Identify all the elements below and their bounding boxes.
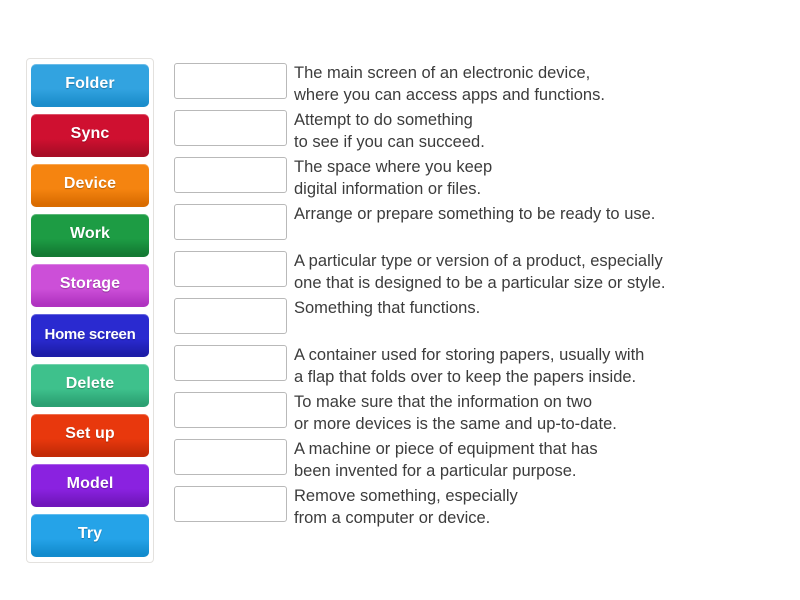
answer-row: A container used for storing papers, usu… bbox=[174, 344, 665, 391]
definition-text: Arrange or prepare something to be ready… bbox=[294, 203, 655, 225]
word-tile-label: Storage bbox=[58, 275, 122, 293]
word-tile[interactable]: Storage bbox=[31, 264, 149, 307]
word-tile-label: Set up bbox=[63, 425, 117, 443]
answer-drop-box[interactable] bbox=[174, 439, 287, 475]
answer-row: Attempt to do something to see if you ca… bbox=[174, 109, 665, 156]
word-tile-label: Work bbox=[68, 225, 112, 243]
word-tile[interactable]: Folder bbox=[31, 64, 149, 107]
answer-drop-box[interactable] bbox=[174, 204, 287, 240]
answer-row: The space where you keep digital informa… bbox=[174, 156, 665, 203]
definition-text: To make sure that the information on two… bbox=[294, 391, 617, 435]
answer-drop-box[interactable] bbox=[174, 251, 287, 287]
definition-text: A machine or piece of equipment that has… bbox=[294, 438, 598, 482]
definition-text: The main screen of an electronic device,… bbox=[294, 62, 605, 106]
answer-row: Arrange or prepare something to be ready… bbox=[174, 203, 665, 250]
word-tile[interactable]: Delete bbox=[31, 364, 149, 407]
answer-drop-box[interactable] bbox=[174, 63, 287, 99]
answer-drop-box[interactable] bbox=[174, 298, 287, 334]
word-tile[interactable]: Work bbox=[31, 214, 149, 257]
answer-drop-box[interactable] bbox=[174, 345, 287, 381]
answer-row: Something that functions. bbox=[174, 297, 665, 344]
definition-text: Remove something, especially from a comp… bbox=[294, 485, 518, 529]
answer-row: To make sure that the information on two… bbox=[174, 391, 665, 438]
definition-text: Attempt to do something to see if you ca… bbox=[294, 109, 485, 153]
answer-drop-box[interactable] bbox=[174, 392, 287, 428]
match-up-activity: FolderSyncDeviceWorkStorageHome screenDe… bbox=[0, 0, 800, 600]
answer-drop-box[interactable] bbox=[174, 157, 287, 193]
word-tile-panel: FolderSyncDeviceWorkStorageHome screenDe… bbox=[26, 58, 154, 563]
answer-row: A particular type or version of a produc… bbox=[174, 250, 665, 297]
word-tile-label: Delete bbox=[64, 375, 117, 393]
definition-text: A particular type or version of a produc… bbox=[294, 250, 665, 294]
answer-row: Remove something, especially from a comp… bbox=[174, 485, 665, 532]
word-tile-label: Home screen bbox=[43, 326, 138, 343]
word-tile[interactable]: Home screen bbox=[31, 314, 149, 357]
word-tile-label: Folder bbox=[63, 75, 117, 93]
word-tile[interactable]: Set up bbox=[31, 414, 149, 457]
word-tile[interactable]: Device bbox=[31, 164, 149, 207]
definition-text: The space where you keep digital informa… bbox=[294, 156, 492, 200]
answer-row-list: The main screen of an electronic device,… bbox=[174, 62, 665, 532]
definition-text: A container used for storing papers, usu… bbox=[294, 344, 644, 388]
word-tile-label: Model bbox=[65, 475, 116, 493]
word-tile[interactable]: Model bbox=[31, 464, 149, 507]
word-tile-label: Sync bbox=[69, 125, 112, 143]
word-tile-label: Try bbox=[76, 525, 104, 543]
answer-drop-box[interactable] bbox=[174, 486, 287, 522]
word-tile[interactable]: Sync bbox=[31, 114, 149, 157]
answer-row: The main screen of an electronic device,… bbox=[174, 62, 665, 109]
definition-text: Something that functions. bbox=[294, 297, 480, 319]
answer-row: A machine or piece of equipment that has… bbox=[174, 438, 665, 485]
answer-drop-box[interactable] bbox=[174, 110, 287, 146]
word-tile-label: Device bbox=[62, 175, 118, 193]
word-tile[interactable]: Try bbox=[31, 514, 149, 557]
